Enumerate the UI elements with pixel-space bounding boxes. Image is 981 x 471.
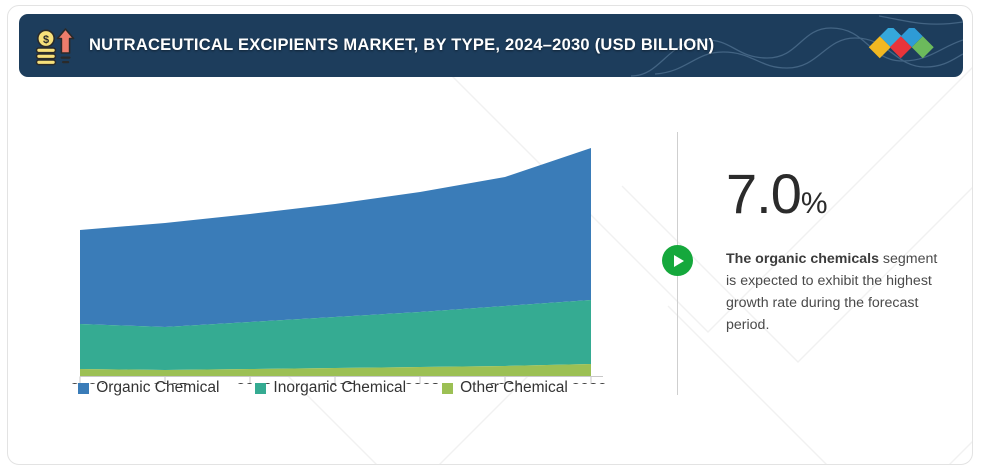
svg-text:$: $ <box>43 34 49 46</box>
percent-symbol: % <box>801 189 827 219</box>
play-triangle-icon <box>673 254 685 268</box>
page-title: NUTRACEUTICAL EXCIPIENTS MARKET, BY TYPE… <box>89 14 714 77</box>
chart-plot: 2024 2025 2026 2027 2028 2029 2030 <box>13 84 633 384</box>
legend-swatch-icon <box>78 383 89 394</box>
legend-item-label: Inorganic Chemical <box>273 379 406 397</box>
play-button[interactable] <box>662 245 693 276</box>
legend-item-organic-chemical[interactable]: Organic Chemical <box>78 379 219 397</box>
highlight-stat-panel: 7.0% The organic chemicals segment is ex… <box>726 166 971 336</box>
infographic-card: $ NUTRACEUTICAL EXCIPIENTS MARKET, BY TY… <box>7 5 973 465</box>
stat-value: 7.0 <box>726 166 801 222</box>
series-area-organic-chemical <box>80 148 591 327</box>
legend-item-label: Organic Chemical <box>96 379 219 397</box>
stacked-area-chart: 2024 2025 2026 2027 2028 2029 2030 Organ… <box>13 84 633 459</box>
diamond-cluster-logo <box>859 28 951 64</box>
legend-item-other-chemical[interactable]: Other Chemical <box>442 379 568 397</box>
chart-legend: Organic Chemical Inorganic Chemical Othe… <box>13 379 633 397</box>
legend-item-inorganic-chemical[interactable]: Inorganic Chemical <box>255 379 406 397</box>
stat-caption-bold: The organic chemicals <box>726 251 879 267</box>
coin-stack-growth-arrow-icon: $ <box>31 23 77 69</box>
legend-item-label: Other Chemical <box>460 379 568 397</box>
stat-caption: The organic chemicals segment is expecte… <box>726 248 948 336</box>
legend-swatch-icon <box>442 383 453 394</box>
legend-swatch-icon <box>255 383 266 394</box>
header-bar: $ NUTRACEUTICAL EXCIPIENTS MARKET, BY TY… <box>19 14 963 77</box>
stat-value-group: 7.0% <box>726 166 971 222</box>
